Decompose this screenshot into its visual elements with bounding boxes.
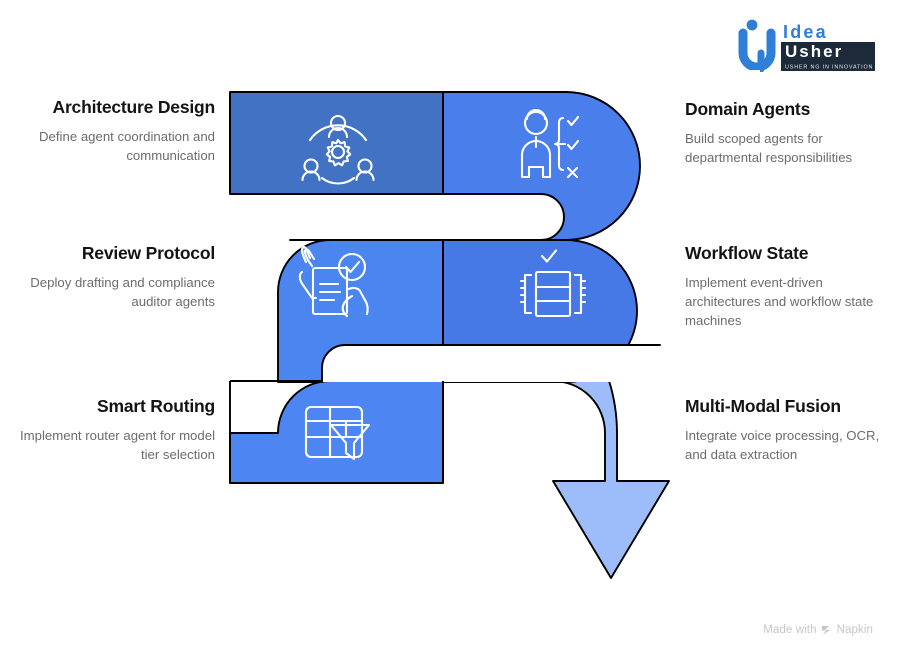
document-check-hands-icon bbox=[300, 247, 368, 316]
block-description: Build scoped agents for departmental res… bbox=[685, 129, 897, 167]
logo-u-mark bbox=[743, 33, 771, 67]
text-block-smart-routing: Smart Routing Implement router agent for… bbox=[0, 396, 215, 464]
napkin-watermark: Made with Napkin bbox=[763, 624, 873, 636]
segment-fill-smart-routing[interactable] bbox=[230, 381, 443, 483]
flow-final bbox=[200, 70, 760, 610]
block-title: Workflow State bbox=[685, 243, 897, 264]
document-letter-microphone-icon bbox=[527, 404, 571, 460]
segment-fill-architecture-design[interactable] bbox=[230, 92, 443, 194]
flow-render bbox=[230, 92, 640, 388]
notch-bottom-clear bbox=[322, 345, 680, 382]
block-title: Multi-Modal Fusion bbox=[685, 396, 897, 417]
text-block-architecture-design: Architecture Design Define agent coordin… bbox=[0, 97, 215, 165]
flow-notch-bottom-helper bbox=[230, 345, 897, 381]
segment-fill-workflow-state[interactable] bbox=[443, 240, 637, 382]
idea-usher-logo: Idea Usher USHER NG IN INNOVATION bbox=[735, 16, 875, 72]
block-description: Implement event-driven architectures and… bbox=[685, 273, 897, 330]
flow-segment-architecture-design bbox=[230, 92, 443, 194]
segment-fill-multi-modal-fusion[interactable] bbox=[443, 259, 669, 578]
logo-dot bbox=[747, 20, 758, 31]
block-description: Implement router agent for model tier se… bbox=[0, 426, 215, 464]
block-description: Define agent coordination and communicat… bbox=[0, 127, 215, 165]
flow-outline bbox=[230, 92, 590, 483]
seg2-fill bbox=[443, 92, 640, 240]
flow-arrow-down bbox=[443, 376, 667, 578]
notch-top-clear bbox=[222, 194, 564, 240]
people-gear-network-icon bbox=[303, 116, 374, 184]
logo-text-idea: Idea bbox=[783, 22, 828, 42]
flow-segment-smart-routing bbox=[230, 381, 443, 483]
flow-segment-review-protocol bbox=[279, 240, 443, 381]
flow-outline-main bbox=[230, 92, 640, 345]
watermark-product: Napkin bbox=[837, 624, 873, 636]
watermark-made-with: Made with bbox=[763, 624, 816, 636]
napkin-logo-icon bbox=[821, 624, 833, 636]
text-block-workflow-state: Workflow State Implement event-driven ar… bbox=[685, 243, 897, 330]
block-title: Review Protocol bbox=[0, 243, 215, 264]
notch-top-outline bbox=[230, 194, 564, 240]
stacked-layers-check-icon bbox=[521, 251, 585, 317]
block-description: Deploy drafting and compliance auditor a… bbox=[0, 273, 215, 311]
seg1-fill bbox=[230, 92, 443, 194]
logo-tagline: USHER NG IN INNOVATION bbox=[785, 65, 873, 71]
flow-segment-multi-modal-fusion bbox=[443, 376, 662, 560]
segment-fill-domain-agents[interactable] bbox=[443, 92, 640, 240]
segment-fill-review-protocol[interactable] bbox=[278, 240, 443, 382]
block-title: Domain Agents bbox=[685, 99, 897, 120]
flow-notch-top bbox=[230, 194, 564, 240]
flow-segment-workflow-state bbox=[443, 240, 582, 381]
block-title: Smart Routing bbox=[0, 396, 215, 417]
flow-segment-domain-agents bbox=[443, 92, 584, 240]
text-block-multi-modal-fusion: Multi-Modal Fusion Integrate voice proce… bbox=[685, 396, 897, 464]
block-title: Architecture Design bbox=[0, 97, 215, 118]
text-block-domain-agents: Domain Agents Build scoped agents for de… bbox=[685, 99, 897, 167]
notch-bottom-outline bbox=[322, 345, 660, 382]
text-block-review-protocol: Review Protocol Deploy drafting and comp… bbox=[0, 243, 215, 311]
logo-text-usher: Usher bbox=[785, 42, 843, 61]
table-funnel-filter-icon bbox=[306, 407, 369, 459]
person-checklist-branch-icon bbox=[522, 110, 578, 177]
block-description: Integrate voice processing, OCR, and dat… bbox=[685, 426, 897, 464]
